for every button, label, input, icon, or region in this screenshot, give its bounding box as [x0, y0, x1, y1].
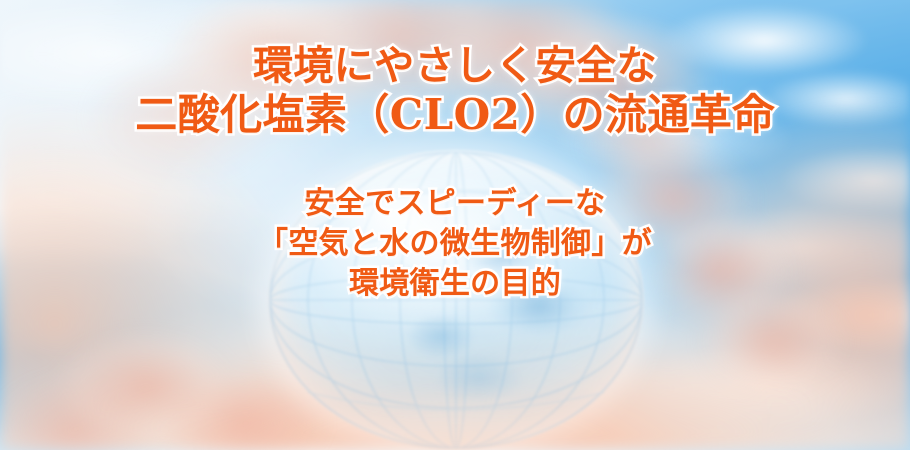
subheadline: 安全でスピーディーな 「空気と水の微生物制御」が 環境衛生の目的	[258, 184, 652, 304]
headline: 環境にやさしく安全な 二酸化塩素（CLO2）の流通革命	[135, 42, 775, 140]
hero-banner: 環境にやさしく安全な 二酸化塩素（CLO2）の流通革命 安全でスピーディーな 「…	[0, 0, 910, 450]
subheadline-line-2: 「空気と水の微生物制御」が	[258, 224, 652, 264]
subheadline-line-1: 安全でスピーディーな	[258, 184, 652, 224]
headline-line-1: 環境にやさしく安全な	[135, 42, 775, 90]
banner-copy: 環境にやさしく安全な 二酸化塩素（CLO2）の流通革命 安全でスピーディーな 「…	[0, 0, 910, 450]
subheadline-line-3: 環境衛生の目的	[258, 264, 652, 304]
headline-line-2: 二酸化塩素（CLO2）の流通革命	[135, 90, 775, 140]
